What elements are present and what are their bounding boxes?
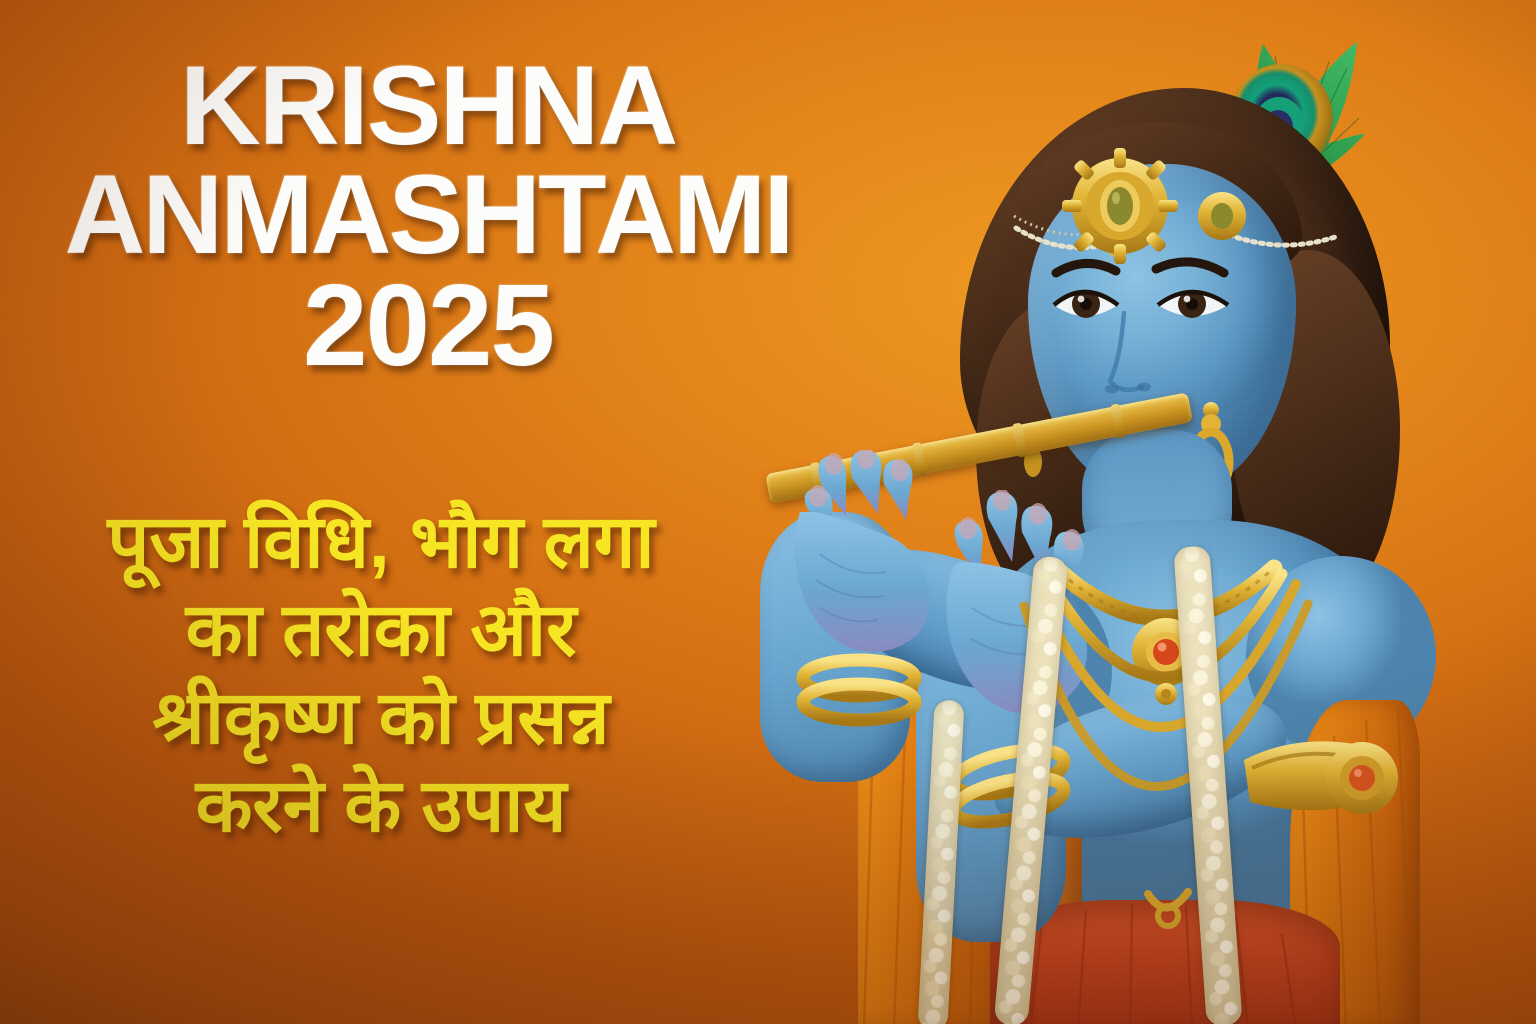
krishna-janmashtami-poster: KRISHNA ANMASHTAMI 2025 पूजा विधि, भौग ल… <box>0 0 1536 1024</box>
gold-bangle-right <box>784 650 934 740</box>
gold-choker <box>1060 568 1274 618</box>
page-title: KRISHNA ANMASHTAMI 2025 <box>0 52 878 382</box>
subtitle: पूजा विधि, भौग लगा का तरोका और श्रीकृष्ण… <box>0 498 776 850</box>
subtitle-line-2: का तरोका और <box>0 586 776 674</box>
subtitle-line-3: श्रीकृष्ण को प्रसन्न <box>0 674 776 762</box>
title-line-3: 2025 <box>0 269 878 382</box>
subtitle-line-1: पूजा विधि, भौग लगा <box>0 498 776 586</box>
title-line-1: KRISHNA <box>0 52 878 161</box>
title-line-2: ANMASHTAMI <box>0 161 878 270</box>
pearl-chain-right <box>1222 232 1338 245</box>
subtitle-line-4: करने के उपाय <box>0 762 776 850</box>
gold-crown-ornament-icon <box>1008 132 1348 282</box>
crown-gem <box>1107 187 1133 225</box>
